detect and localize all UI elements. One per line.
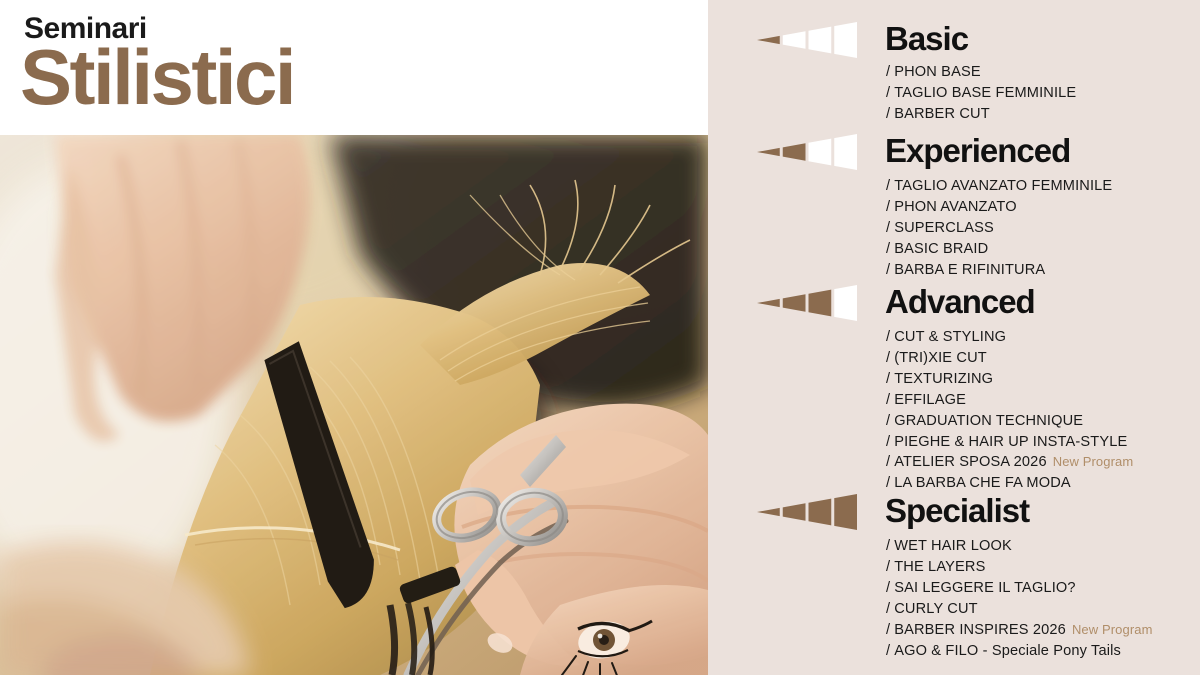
course-label: SUPERCLASS: [894, 220, 994, 236]
list-item[interactable]: /BARBER INSPIRES 2026New Program: [886, 620, 1153, 641]
list-item[interactable]: /PHON AVANZATO: [886, 197, 1112, 218]
list-item[interactable]: /EFFILAGE: [886, 390, 1133, 411]
course-label: LA BARBA CHE FA MODA: [894, 475, 1071, 491]
list-item[interactable]: /WET HAIR LOOK: [886, 536, 1153, 557]
levels-panel: Basic /PHON BASE /TAGLIO BASE FEMMINILE …: [708, 0, 1200, 675]
section-title-advanced: Advanced: [885, 285, 1035, 318]
list-item[interactable]: /BARBER CUT: [886, 104, 1076, 125]
course-label: ATELIER SPOSA 2026: [894, 454, 1047, 470]
list-item[interactable]: /BARBA E RIFINITURA: [886, 260, 1112, 281]
list-item[interactable]: /GRADUATION TECHNIQUE: [886, 411, 1133, 432]
new-program-badge: New Program: [1053, 454, 1134, 469]
course-list-specialist: /WET HAIR LOOK /THE LAYERS /SAI LEGGERE …: [886, 536, 1153, 661]
title-block: Seminari Stilistici: [0, 0, 708, 135]
page-title: Stilistici: [20, 38, 294, 116]
course-label: WET HAIR LOOK: [894, 538, 1012, 554]
slide-root: Seminari Stilistici: [0, 0, 1200, 675]
course-label: PIEGHE & HAIR UP INSTA-STYLE: [894, 434, 1127, 450]
course-label: PHON AVANZATO: [894, 199, 1017, 215]
list-item[interactable]: /AGO & FILO - Speciale Pony Tails: [886, 641, 1153, 662]
new-program-badge: New Program: [1072, 622, 1153, 637]
course-label: PHON BASE: [894, 64, 981, 80]
course-label: BARBER INSPIRES 2026: [894, 622, 1066, 638]
course-label: THE LAYERS: [894, 559, 985, 575]
course-label: AGO & FILO - Speciale Pony Tails: [894, 643, 1121, 659]
section-title-experienced: Experienced: [885, 134, 1070, 167]
level-wedge-experienced: [757, 134, 857, 170]
course-list-basic: /PHON BASE /TAGLIO BASE FEMMINILE /BARBE…: [886, 62, 1076, 125]
course-label: SAI LEGGERE IL TAGLIO?: [894, 580, 1075, 596]
course-label: EFFILAGE: [894, 392, 966, 408]
list-item[interactable]: /(TRI)XIE CUT: [886, 348, 1133, 369]
hair-cutting-photo: [0, 135, 708, 675]
level-wedge-advanced: [757, 285, 857, 321]
course-label: TAGLIO BASE FEMMINILE: [894, 85, 1076, 101]
list-item[interactable]: /CURLY CUT: [886, 599, 1153, 620]
section-title-basic: Basic: [885, 22, 968, 55]
list-item[interactable]: /CUT & STYLING: [886, 327, 1133, 348]
list-item[interactable]: /TAGLIO AVANZATO FEMMINILE: [886, 176, 1112, 197]
list-item[interactable]: /ATELIER SPOSA 2026New Program: [886, 452, 1133, 473]
list-item[interactable]: /SAI LEGGERE IL TAGLIO?: [886, 578, 1153, 599]
list-item[interactable]: /BASIC BRAID: [886, 239, 1112, 260]
list-item[interactable]: /SUPERCLASS: [886, 218, 1112, 239]
list-item[interactable]: /THE LAYERS: [886, 557, 1153, 578]
level-wedge-basic: [757, 22, 857, 58]
course-label: GRADUATION TECHNIQUE: [894, 413, 1083, 429]
course-label: BARBA E RIFINITURA: [894, 262, 1045, 278]
list-item[interactable]: /PIEGHE & HAIR UP INSTA-STYLE: [886, 432, 1133, 453]
section-title-specialist: Specialist: [885, 494, 1029, 527]
course-label: TAGLIO AVANZATO FEMMINILE: [894, 178, 1112, 194]
level-wedge-specialist: [757, 494, 857, 530]
course-label: BARBER CUT: [894, 106, 990, 122]
course-list-experienced: /TAGLIO AVANZATO FEMMINILE /PHON AVANZAT…: [886, 176, 1112, 281]
list-item[interactable]: /TEXTURIZING: [886, 369, 1133, 390]
course-label: CUT & STYLING: [894, 329, 1006, 345]
list-item[interactable]: /TAGLIO BASE FEMMINILE: [886, 83, 1076, 104]
list-item[interactable]: /PHON BASE: [886, 62, 1076, 83]
course-label: (TRI)XIE CUT: [894, 350, 987, 366]
course-label: BASIC BRAID: [894, 241, 988, 257]
course-label: CURLY CUT: [894, 601, 978, 617]
course-label: TEXTURIZING: [894, 371, 993, 387]
left-column: Seminari Stilistici: [0, 0, 708, 675]
course-list-advanced: /CUT & STYLING /(TRI)XIE CUT /TEXTURIZIN…: [886, 327, 1133, 494]
